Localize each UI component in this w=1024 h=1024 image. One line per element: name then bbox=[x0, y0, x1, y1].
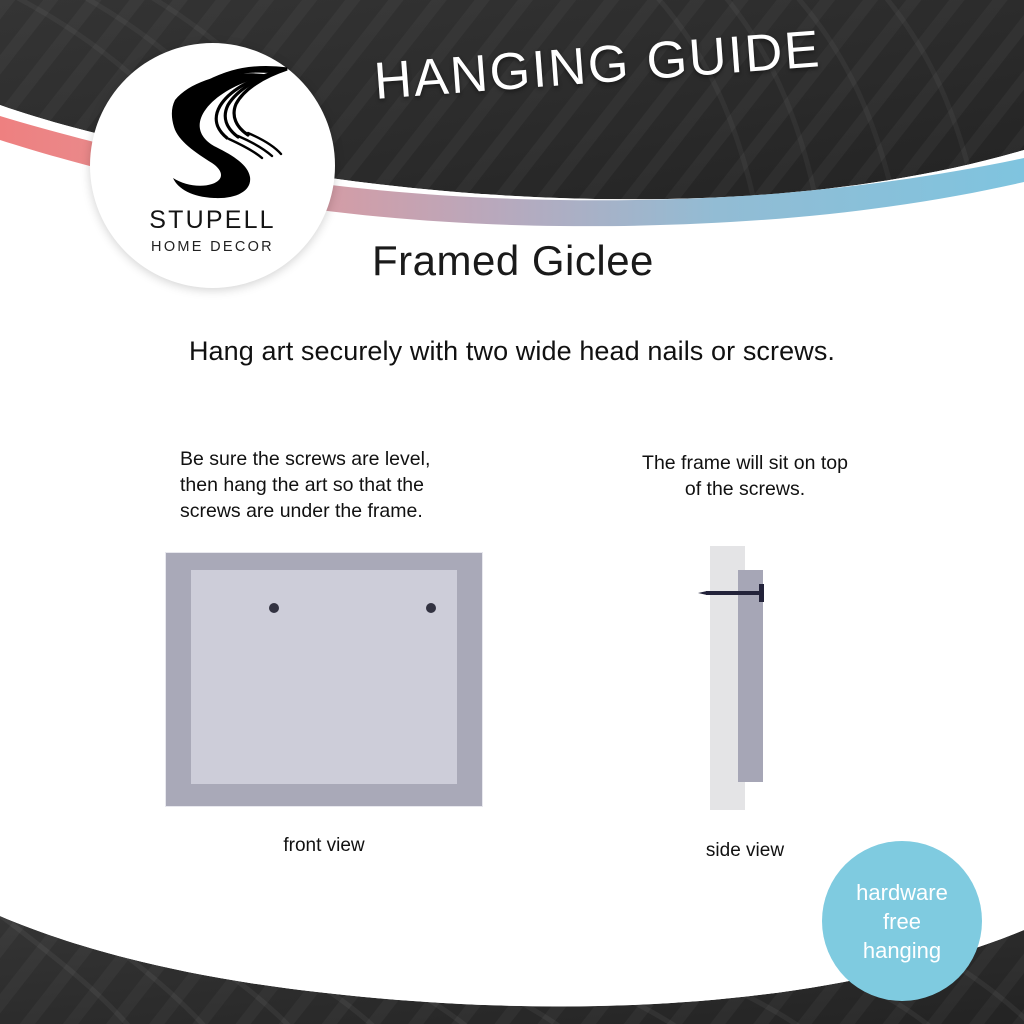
brand-logo-badge: STUPELL HOME DECOR bbox=[90, 43, 335, 288]
logo-brand-subtitle: HOME DECOR bbox=[90, 239, 335, 255]
screw-hole-right-icon bbox=[426, 603, 436, 613]
main-instruction-text: Hang art securely with two wide head nai… bbox=[0, 336, 1024, 367]
page-title: HANGING GUIDE bbox=[372, 19, 823, 112]
side-view-frame-diagram bbox=[690, 540, 800, 815]
logo-brand-name: STUPELL bbox=[90, 206, 335, 235]
badge-line-2: free bbox=[856, 907, 948, 936]
nail-head-icon bbox=[759, 584, 764, 602]
front-view-label: front view bbox=[165, 835, 483, 857]
stupell-s-swoosh-icon bbox=[130, 65, 295, 200]
front-view-frame-diagram bbox=[165, 552, 483, 807]
side-view-caption-line-1: The frame will sit on top bbox=[600, 450, 890, 476]
frame-mat-area bbox=[191, 570, 457, 784]
product-type-heading: Framed Giclee bbox=[372, 237, 654, 285]
side-view-label: side view bbox=[650, 840, 840, 862]
nail-tip-icon bbox=[698, 591, 707, 595]
front-view-caption-line-3: screws are under the frame. bbox=[180, 498, 480, 524]
side-view-caption: The frame will sit on top of the screws. bbox=[600, 450, 890, 502]
hanging-guide-page: STUPELL HOME DECOR HANGING GUIDE Framed … bbox=[0, 0, 1024, 1024]
badge-line-3: hanging bbox=[856, 936, 948, 965]
front-view-caption-line-2: then hang the art so that the bbox=[180, 472, 480, 498]
front-view-caption-line-1: Be sure the screws are level, bbox=[180, 446, 480, 472]
nail-shaft-icon bbox=[706, 591, 763, 595]
badge-line-1: hardware bbox=[856, 878, 948, 907]
hardware-badge-text: hardware free hanging bbox=[856, 878, 948, 965]
screw-hole-left-icon bbox=[269, 603, 279, 613]
hardware-free-hanging-badge: hardware free hanging bbox=[822, 841, 982, 1001]
front-view-caption: Be sure the screws are level, then hang … bbox=[180, 446, 480, 524]
side-view-caption-line-2: of the screws. bbox=[600, 476, 890, 502]
